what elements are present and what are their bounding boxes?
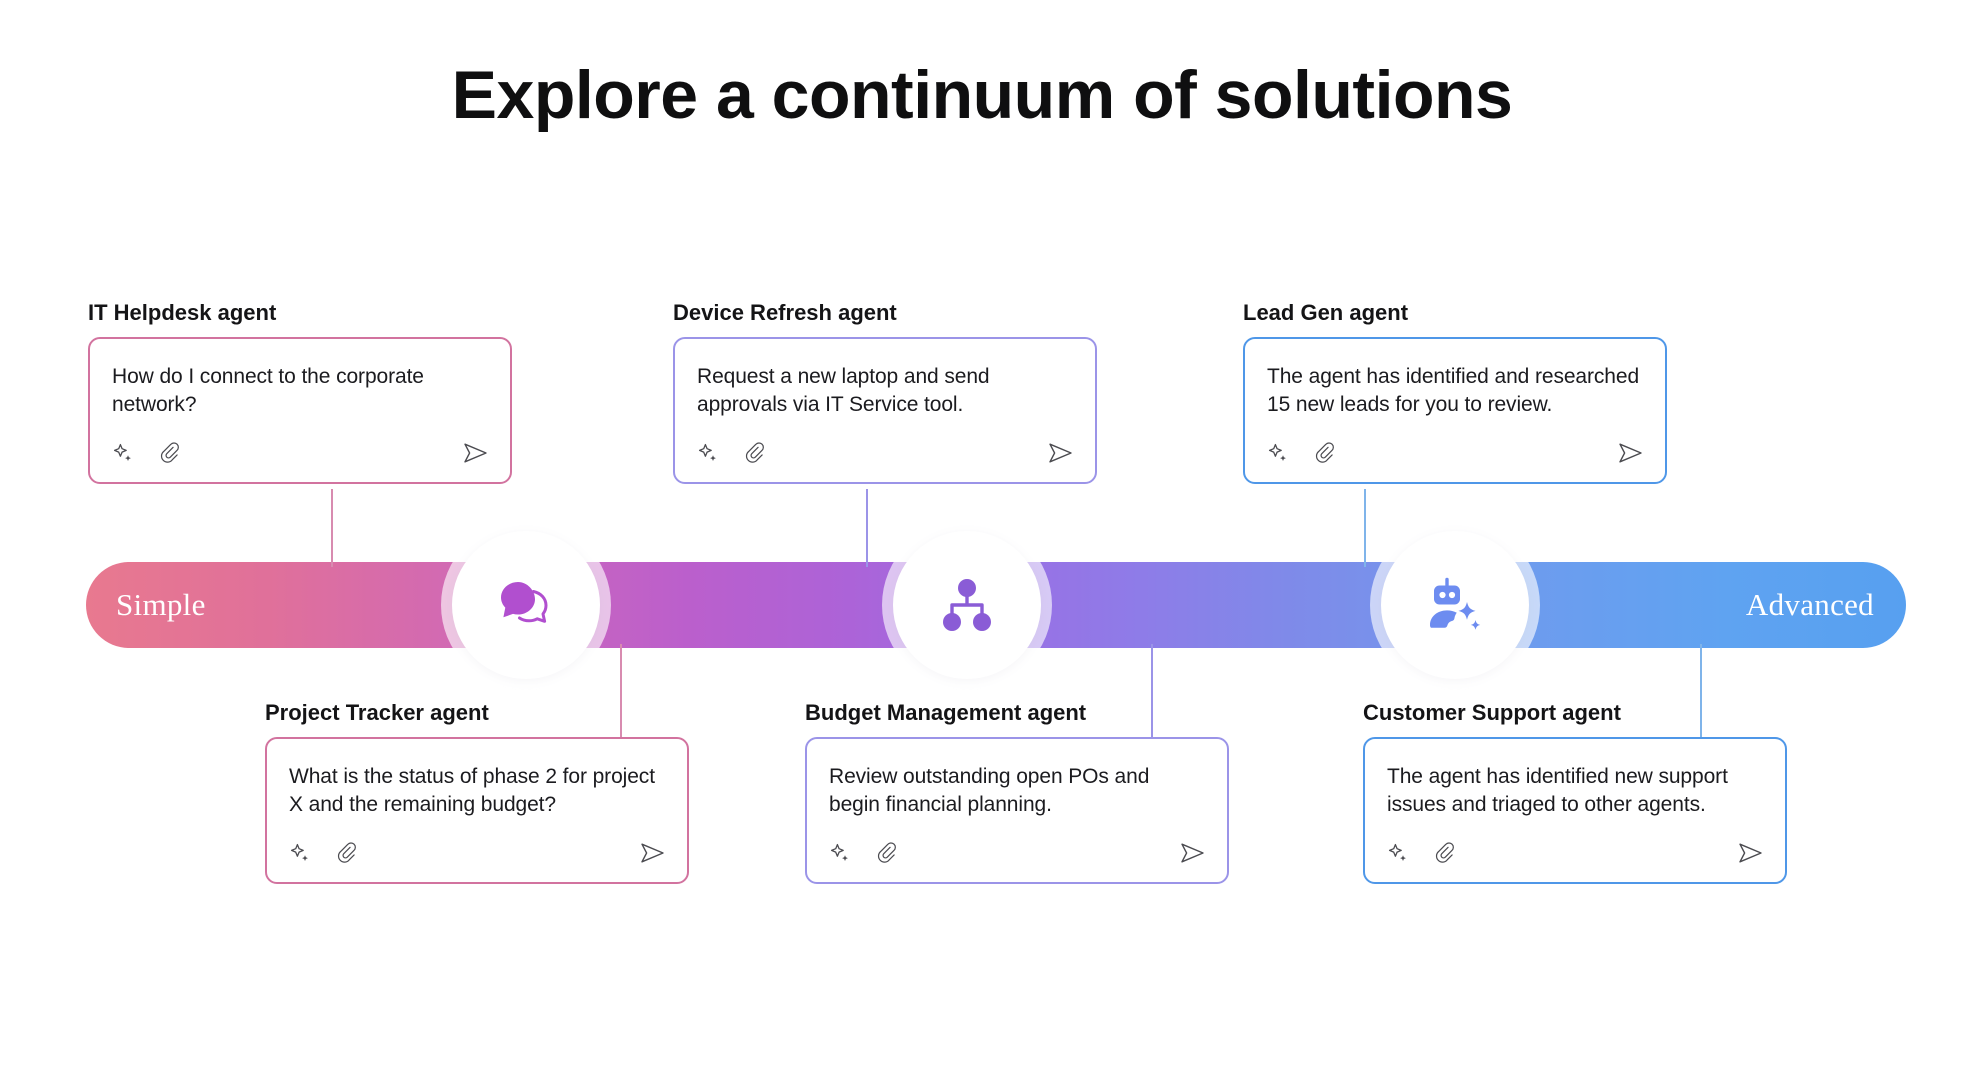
page-title: Explore a continuum of solutions [0, 56, 1964, 134]
agent-card-it-helpdesk[interactable]: How do I connect to the corporate networ… [88, 337, 512, 484]
send-icon[interactable] [1737, 841, 1765, 865]
sparkle-icon[interactable] [289, 842, 311, 864]
send-icon[interactable] [462, 441, 490, 465]
agent-card-customer-support[interactable]: The agent has identified new support iss… [1363, 737, 1787, 884]
card-message-project-tracker: What is the status of phase 2 for projec… [289, 763, 665, 819]
agent-card-budget-management[interactable]: Review outstanding open POs and begin fi… [805, 737, 1229, 884]
card-actions-lead-gen [1267, 438, 1645, 468]
continuum-node-chat[interactable] [452, 531, 600, 679]
card-title-project-tracker: Project Tracker agent [265, 700, 689, 726]
sparkle-icon[interactable] [829, 842, 851, 864]
attachment-icon[interactable] [160, 442, 182, 464]
card-group-project-tracker: Project Tracker agent What is the status… [265, 700, 689, 884]
send-icon[interactable] [1179, 841, 1207, 865]
card-group-budget-management: Budget Management agent Review outstandi… [805, 700, 1229, 884]
send-icon[interactable] [639, 841, 667, 865]
card-message-it-helpdesk: How do I connect to the corporate networ… [112, 363, 488, 419]
connector-it-helpdesk [331, 489, 333, 567]
card-title-it-helpdesk: IT Helpdesk agent [88, 300, 512, 326]
attachment-icon[interactable] [1315, 442, 1337, 464]
continuum-label-simple: Simple [116, 562, 206, 648]
continuum-node-hierarchy[interactable] [893, 531, 1041, 679]
card-actions-budget-management [829, 838, 1207, 868]
card-message-customer-support: The agent has identified new support iss… [1387, 763, 1763, 819]
attachment-icon[interactable] [337, 842, 359, 864]
continuum-label-advanced: Advanced [1746, 562, 1874, 648]
card-title-device-refresh: Device Refresh agent [673, 300, 1097, 326]
sparkle-icon[interactable] [1267, 442, 1289, 464]
agent-card-project-tracker[interactable]: What is the status of phase 2 for projec… [265, 737, 689, 884]
card-group-device-refresh: Device Refresh agent Request a new lapto… [673, 300, 1097, 484]
card-group-it-helpdesk: IT Helpdesk agent How do I connect to th… [88, 300, 512, 484]
card-message-lead-gen: The agent has identified and researched … [1267, 363, 1643, 419]
attachment-icon[interactable] [877, 842, 899, 864]
send-icon[interactable] [1617, 441, 1645, 465]
hierarchy-icon [939, 577, 995, 633]
sparkle-icon[interactable] [112, 442, 134, 464]
card-group-customer-support: Customer Support agent The agent has ide… [1363, 700, 1787, 884]
sparkle-icon[interactable] [697, 442, 719, 464]
agent-card-lead-gen[interactable]: The agent has identified and researched … [1243, 337, 1667, 484]
card-message-budget-management: Review outstanding open POs and begin fi… [829, 763, 1205, 819]
card-title-lead-gen: Lead Gen agent [1243, 300, 1667, 326]
card-title-customer-support: Customer Support agent [1363, 700, 1787, 726]
card-message-device-refresh: Request a new laptop and send approvals … [697, 363, 1073, 419]
robot-sparkle-icon [1426, 577, 1484, 633]
sparkle-icon[interactable] [1387, 842, 1409, 864]
attachment-icon[interactable] [1435, 842, 1457, 864]
connector-customer-support [1700, 644, 1702, 744]
connector-device-refresh [866, 489, 868, 567]
continuum-node-robot[interactable] [1381, 531, 1529, 679]
send-icon[interactable] [1047, 441, 1075, 465]
connector-budget-management [1151, 644, 1153, 744]
agent-card-device-refresh[interactable]: Request a new laptop and send approvals … [673, 337, 1097, 484]
card-actions-customer-support [1387, 838, 1765, 868]
connector-project-tracker [620, 644, 622, 744]
connector-lead-gen [1364, 489, 1366, 567]
attachment-icon[interactable] [745, 442, 767, 464]
card-actions-project-tracker [289, 838, 667, 868]
chat-bubbles-icon [497, 578, 555, 632]
card-group-lead-gen: Lead Gen agent The agent has identified … [1243, 300, 1667, 484]
card-actions-device-refresh [697, 438, 1075, 468]
card-actions-it-helpdesk [112, 438, 490, 468]
card-title-budget-management: Budget Management agent [805, 700, 1229, 726]
